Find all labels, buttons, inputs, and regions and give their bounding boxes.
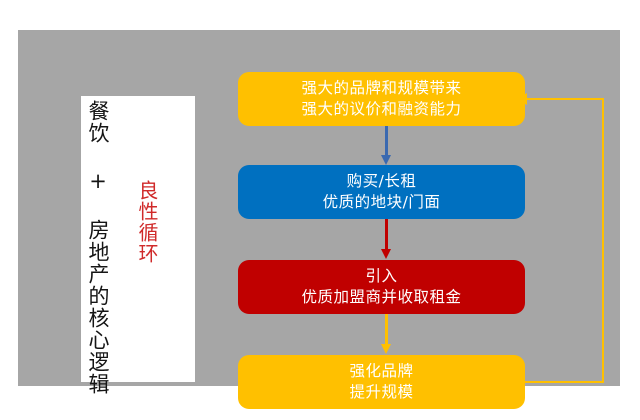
flow-box-line2: 强大的议价和融资能力 [301, 99, 461, 120]
flow-box-brand-scale[interactable]: 强大的品牌和规模带来 强大的议价和融资能力 [238, 72, 525, 126]
arrow-stem [385, 219, 388, 250]
flow-box-line1: 引入 [365, 266, 397, 287]
arrow-head [381, 155, 391, 165]
flow-box-line1: 强大的品牌和规模带来 [301, 78, 461, 99]
feedback-loop-segment-right [602, 98, 604, 383]
flow-box-franchise-rent[interactable]: 引入 优质加盟商并收取租金 [238, 260, 525, 314]
flow-box-strengthen-brand[interactable]: 强化品牌 提升规模 [238, 355, 525, 409]
flow-box-line1: 购买/长租 [347, 171, 417, 192]
feedback-loop-segment-top [526, 98, 604, 100]
diagram-root: 餐饮 + 房地产的核心逻辑 良性循环 强大的品牌和规模带来 强大的议价和融资能力… [0, 0, 640, 420]
arrow-stem [385, 126, 388, 156]
feedback-loop-arrow-head-icon [517, 93, 527, 105]
flow-box-buy-lease[interactable]: 购买/长租 优质的地块/门面 [238, 165, 525, 219]
side-panel-title: 餐饮 + 房地产的核心逻辑 [87, 100, 108, 378]
diagram-canvas: 餐饮 + 房地产的核心逻辑 良性循环 强大的品牌和规模带来 强大的议价和融资能力… [18, 30, 620, 386]
side-panel-subtitle: 良性循环 [137, 180, 157, 300]
arrow-stem [385, 314, 388, 345]
flow-box-line1: 强化品牌 [349, 361, 413, 382]
flow-box-line2: 优质的地块/门面 [323, 192, 441, 213]
flow-box-line2: 优质加盟商并收取租金 [301, 287, 461, 308]
arrow-head [381, 344, 391, 354]
feedback-loop-segment-bottom [523, 381, 604, 383]
arrow-head [381, 249, 391, 259]
flow-box-line2: 提升规模 [349, 382, 413, 403]
side-panel: 餐饮 + 房地产的核心逻辑 良性循环 [81, 96, 195, 382]
